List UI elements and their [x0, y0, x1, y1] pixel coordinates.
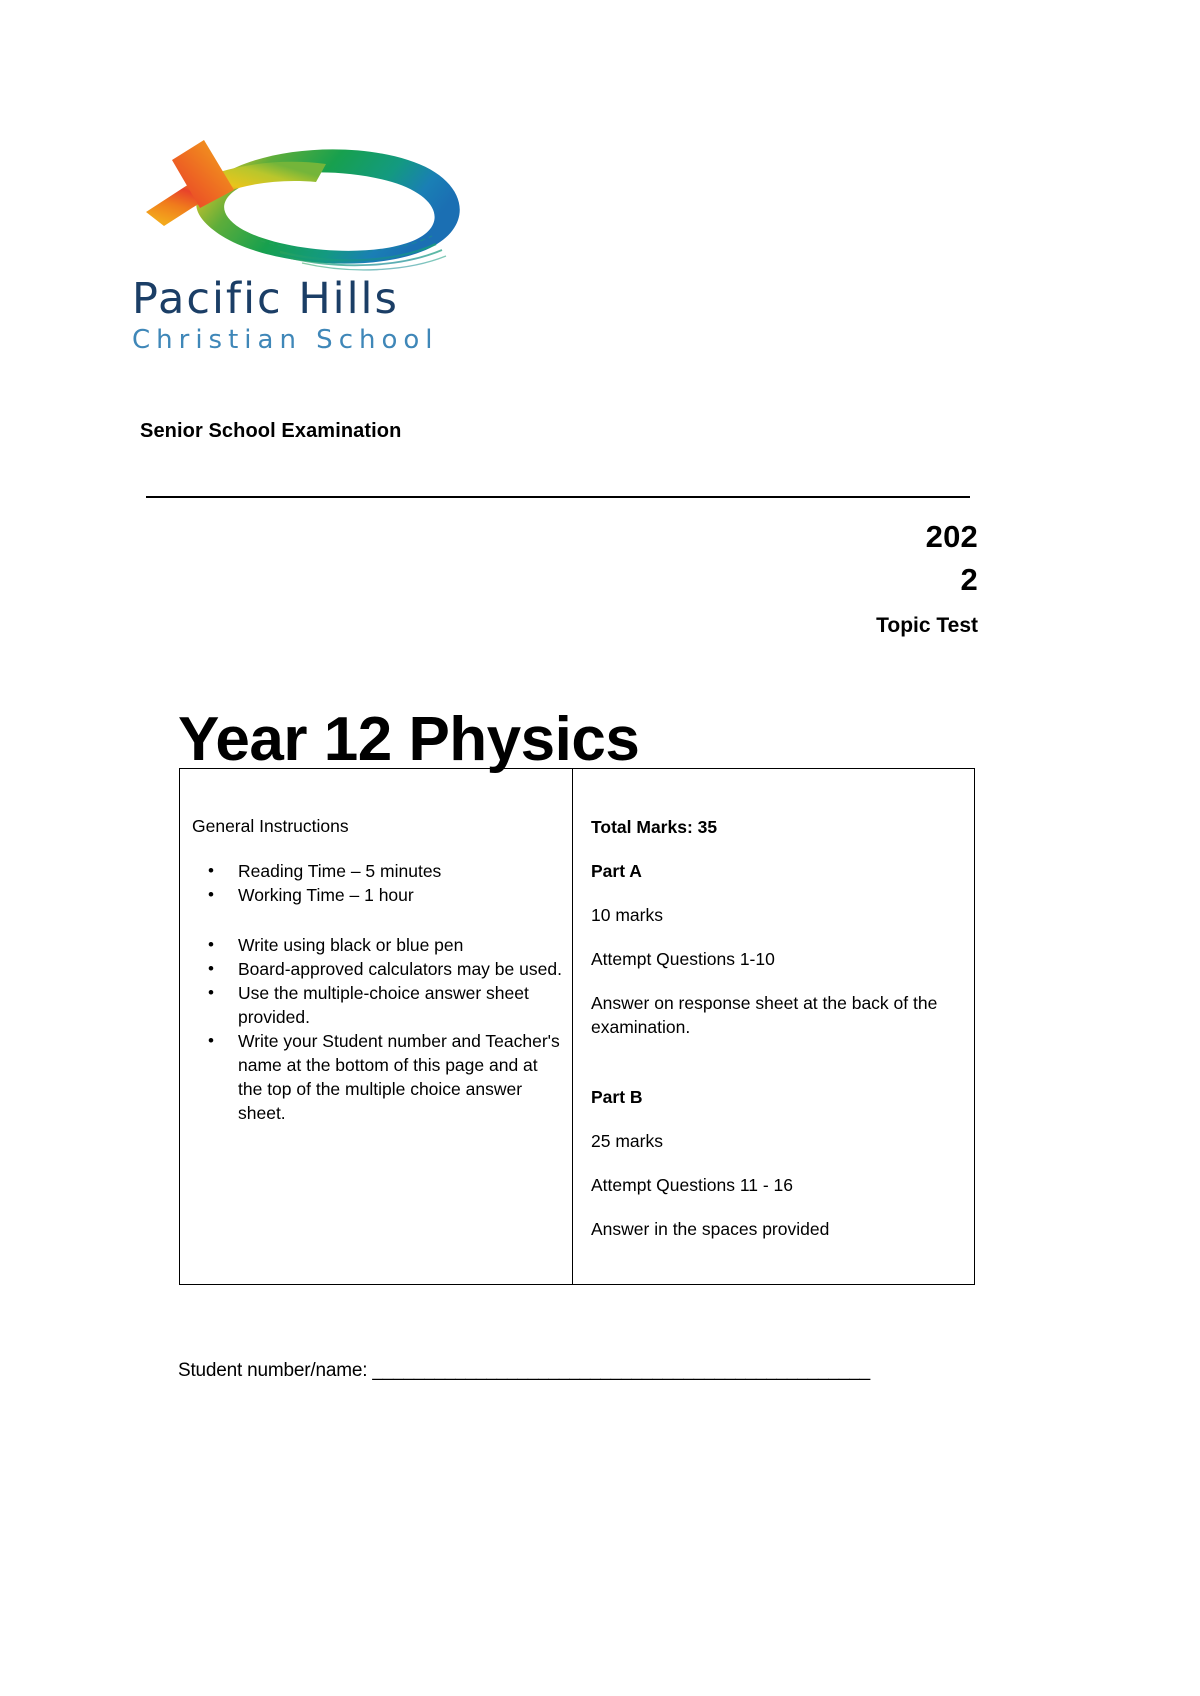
- exam-cover-page: Pacific Hills Christian School Senior Sc…: [0, 0, 1200, 1696]
- list-item: Working Time – 1 hour: [192, 883, 562, 907]
- general-instructions-column: General Instructions Reading Time – 5 mi…: [180, 769, 573, 1284]
- school-logo: Pacific Hills Christian School: [130, 120, 550, 370]
- list-item: Write your Student number and Teacher's …: [192, 1029, 562, 1125]
- part-a-answer: Answer on response sheet at the back of …: [591, 991, 964, 1039]
- topic-test-label: Topic Test: [876, 614, 978, 638]
- list-spacer: [192, 907, 562, 933]
- logo-wordmark: Pacific Hills Christian School: [132, 275, 552, 355]
- total-marks: Total Marks: 35: [591, 815, 964, 839]
- general-instructions-heading: General Instructions: [192, 815, 562, 837]
- pacific-hills-fish-logo-icon: [130, 120, 480, 280]
- logo-school-name: Pacific Hills: [132, 275, 552, 323]
- part-a-label: Part A: [591, 859, 964, 883]
- list-item: Reading Time – 5 minutes: [192, 859, 562, 883]
- logo-school-subtitle: Christian School: [132, 325, 552, 355]
- part-b-answer: Answer in the spaces provided: [591, 1217, 964, 1241]
- student-number-name-field[interactable]: Student number/name: ___________________…: [178, 1360, 870, 1382]
- exam-year-line-1: 202: [858, 515, 978, 558]
- exam-kind-label: Senior School Examination: [140, 420, 401, 443]
- part-b-label: Part B: [591, 1085, 964, 1109]
- part-a-marks: 10 marks: [591, 903, 964, 927]
- page-title: Year 12 Physics: [178, 704, 639, 776]
- part-b-attempt: Attempt Questions 11 - 16: [591, 1173, 964, 1197]
- list-item: Use the multiple-choice answer sheet pro…: [192, 981, 562, 1029]
- list-item: Board-approved calculators may be used.: [192, 957, 562, 981]
- exam-year: 202 2: [858, 515, 978, 601]
- header-divider-rule: [146, 496, 970, 498]
- part-a-attempt: Attempt Questions 1-10: [591, 947, 964, 971]
- general-instructions-list: Reading Time – 5 minutes Working Time – …: [192, 859, 562, 1125]
- list-item: Write using black or blue pen: [192, 933, 562, 957]
- instructions-table: General Instructions Reading Time – 5 mi…: [179, 768, 975, 1285]
- part-b-marks: 25 marks: [591, 1129, 964, 1153]
- exam-year-line-2: 2: [858, 558, 978, 601]
- marks-column: Total Marks: 35 Part A 10 marks Attempt …: [573, 769, 974, 1284]
